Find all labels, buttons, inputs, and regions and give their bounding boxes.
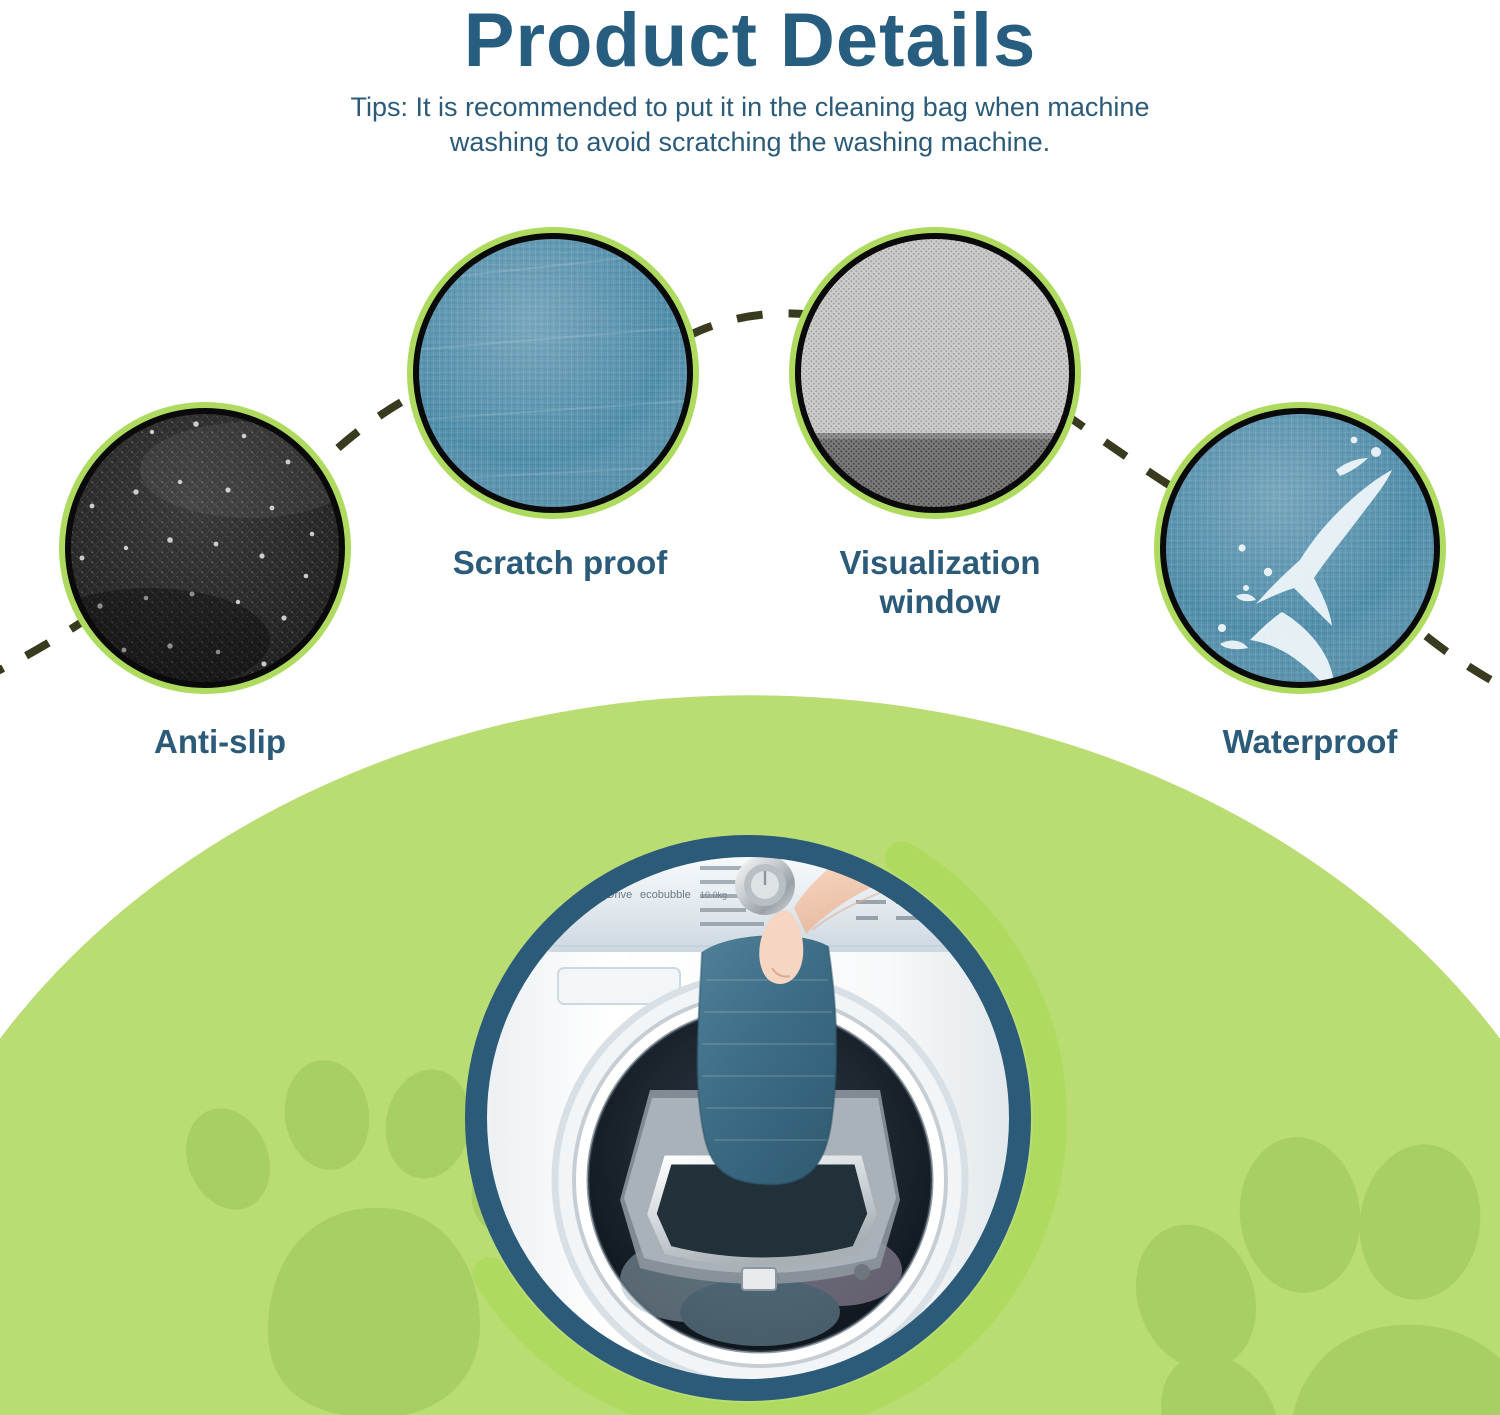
dash-segment-3-4	[1062, 412, 1180, 492]
program-knob	[735, 855, 795, 915]
product-details-infographic: Product Details Tips: It is recommended …	[0, 0, 1500, 1415]
svg-text:ecobubble: ecobubble	[640, 889, 691, 901]
feature-circle-scratch-proof[interactable]	[407, 227, 700, 519]
feature-circle-visualization-window[interactable]	[789, 227, 1081, 525]
feature-circle-anti-slip[interactable]	[30, 402, 360, 694]
graphics-stage: QDrive ecobubble 10.0kg	[0, 0, 1500, 1415]
svg-text:10.0kg: 10.0kg	[700, 890, 727, 900]
feature-circle-waterproof[interactable]	[1154, 402, 1446, 707]
dash-segment-right-edge	[1426, 636, 1500, 694]
